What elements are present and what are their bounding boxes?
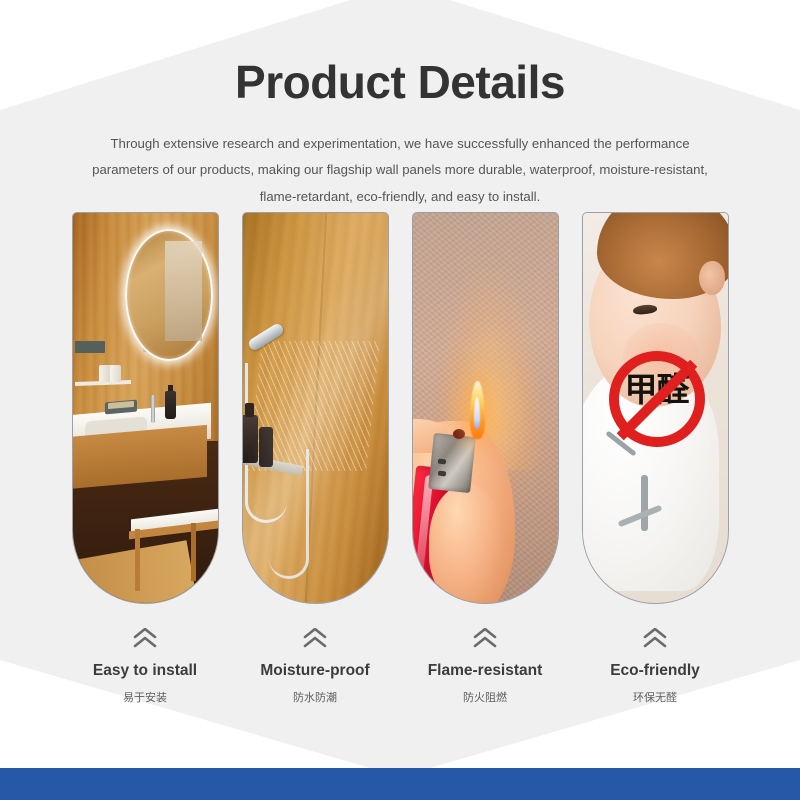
- oval-backlit-mirror: [125, 229, 213, 361]
- shower-photo: [243, 213, 388, 603]
- feature-card-flame-resistant[interactable]: Flame-resistant 防火阻燃: [412, 212, 559, 705]
- lighter-vent-hole-2: [437, 471, 445, 477]
- thumb: [429, 485, 503, 601]
- feature-card-moisture-proof[interactable]: Moisture-proof 防水防潮: [242, 212, 389, 705]
- page-subtitle: Through extensive research and experimen…: [85, 131, 715, 210]
- feature-label-en: Moisture-proof: [260, 662, 369, 680]
- feature-label-cn: 防火阻燃: [463, 689, 507, 705]
- cups-on-shelf: [99, 365, 121, 382]
- baby-photo: 甲醛: [583, 213, 728, 603]
- page-title: Product Details: [0, 56, 800, 109]
- feature-image-easy-to-install[interactable]: [72, 212, 219, 604]
- page-header: Product Details Through extensive resear…: [0, 0, 800, 210]
- flame-core: [474, 397, 480, 429]
- mirror-reflection: [165, 241, 202, 341]
- lighter-nozzle: [453, 429, 465, 439]
- product-details-page: Product Details Through extensive resear…: [0, 0, 800, 800]
- lighter-flame-photo: [413, 213, 558, 603]
- faucet: [151, 395, 155, 423]
- wall-switch-panel: [75, 341, 105, 353]
- bathroom-vanity-photo: [73, 213, 218, 603]
- double-chevron-up-icon: [132, 628, 158, 648]
- feature-cards-row: Easy to install 易于安装: [0, 212, 800, 705]
- feature-label-en: Easy to install: [93, 662, 197, 680]
- bench-leg-right: [191, 523, 196, 581]
- bench-leg-left: [135, 529, 140, 591]
- bottom-accent-bar: [0, 768, 800, 800]
- baby-ear: [699, 261, 725, 295]
- feature-image-eco-friendly[interactable]: 甲醛: [582, 212, 729, 604]
- feature-image-flame-resistant[interactable]: [412, 212, 559, 604]
- feature-card-eco-friendly[interactable]: 甲醛 Eco-friendly 环保无醛: [582, 212, 729, 705]
- toy-part-2: [641, 475, 648, 531]
- feature-label-en: Flame-resistant: [428, 662, 543, 680]
- double-chevron-up-icon: [302, 628, 328, 648]
- feature-label-en: Eco-friendly: [610, 662, 700, 680]
- feature-label-cn: 环保无醛: [633, 689, 677, 705]
- double-chevron-up-icon: [642, 628, 668, 648]
- glass-reflection: [243, 213, 388, 603]
- feature-label-cn: 防水防潮: [293, 689, 337, 705]
- double-chevron-up-icon: [472, 628, 498, 648]
- lighter-vent-hole-1: [437, 459, 445, 465]
- soap-bottle: [165, 391, 176, 419]
- feature-image-moisture-proof[interactable]: [242, 212, 389, 604]
- feature-label-cn: 易于安装: [123, 689, 167, 705]
- lighter-metal-top: [428, 433, 476, 493]
- feature-card-easy-to-install[interactable]: Easy to install 易于安装: [72, 212, 219, 705]
